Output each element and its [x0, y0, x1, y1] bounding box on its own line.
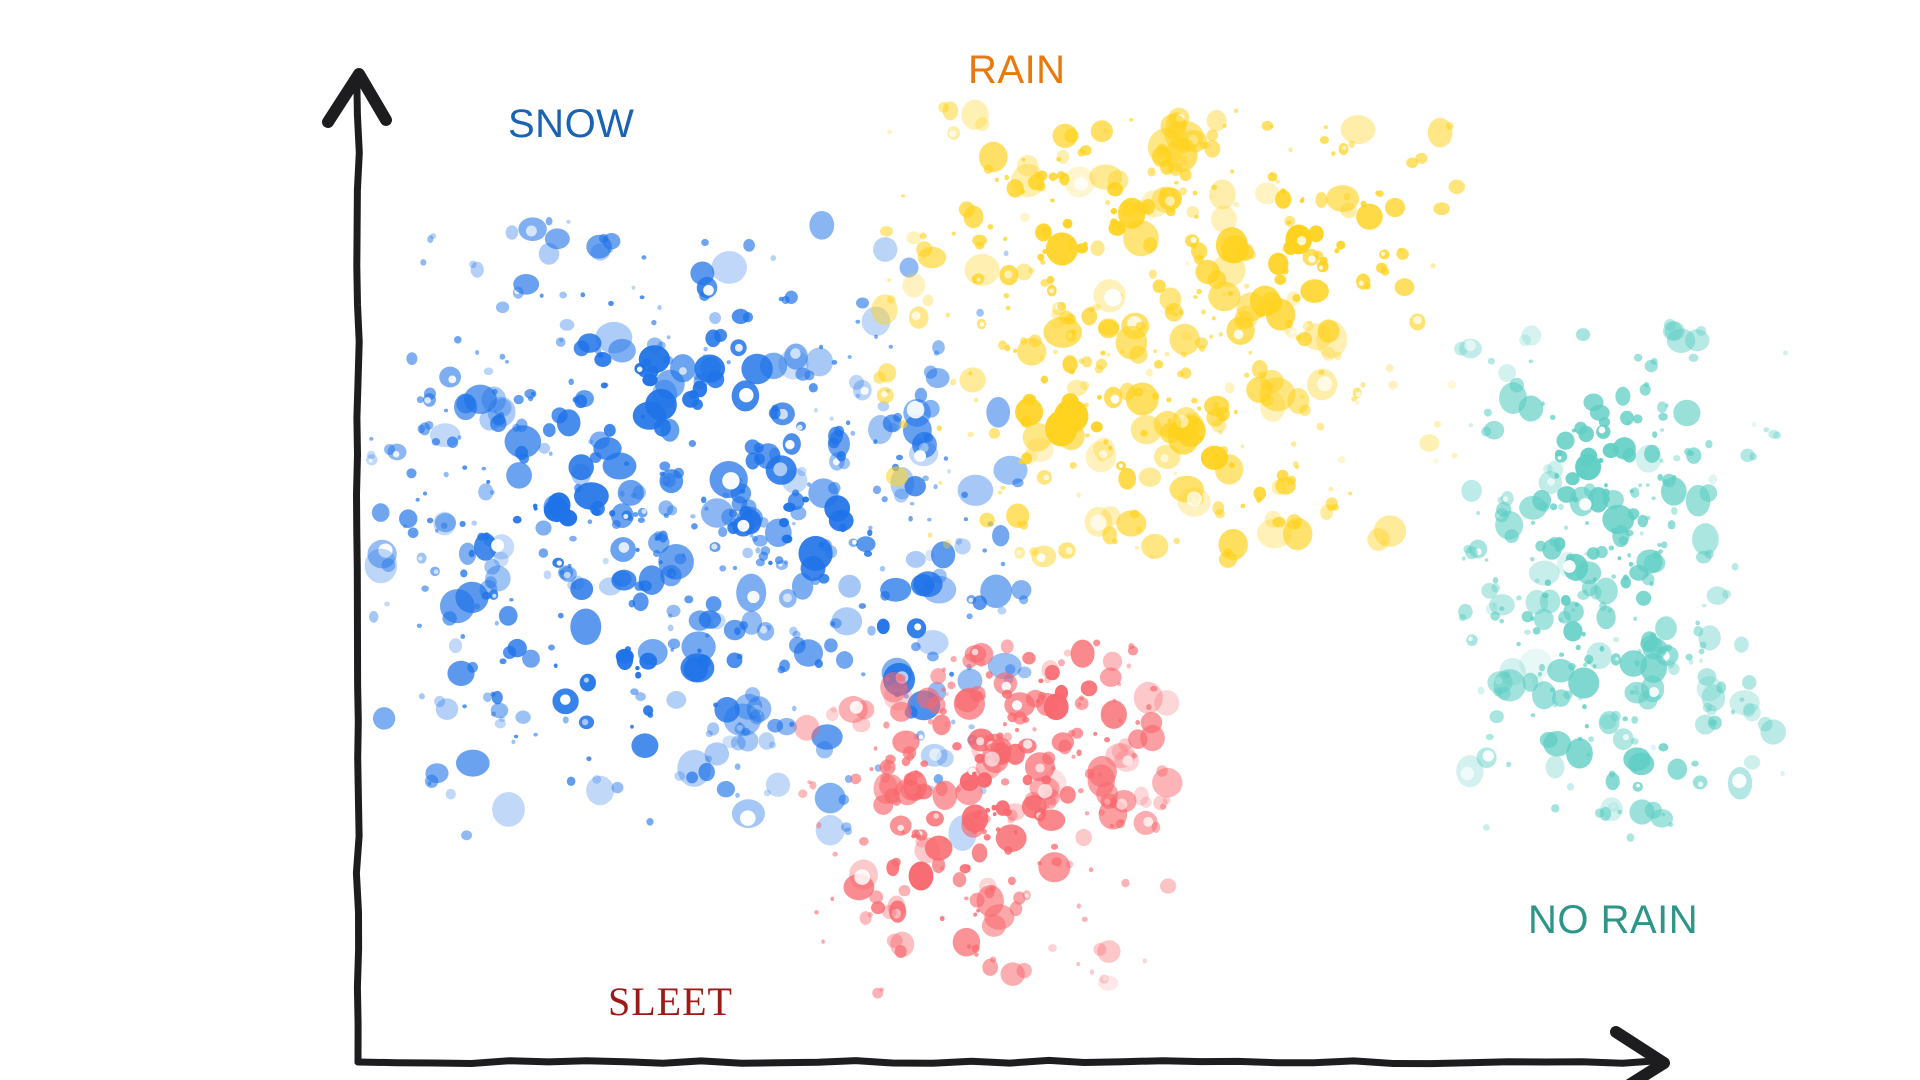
data-point [1100, 668, 1122, 687]
data-point [500, 658, 507, 664]
data-point [1732, 563, 1739, 571]
data-point [958, 475, 994, 506]
data-point-satellite [1008, 816, 1015, 823]
data-point [701, 496, 707, 503]
data-point [657, 305, 661, 310]
data-point [1070, 462, 1077, 469]
data-point-highlight [1122, 755, 1133, 766]
data-points-layer [365, 100, 1788, 999]
data-point [1201, 309, 1206, 314]
data-point [982, 548, 987, 552]
data-point-satellite [1236, 243, 1254, 261]
data-point [1693, 626, 1703, 637]
data-point [1543, 731, 1571, 757]
data-point [515, 711, 530, 724]
data-point [1699, 658, 1703, 663]
data-point [1587, 660, 1591, 664]
data-point-satellite [1364, 283, 1371, 290]
data-point-satellite [646, 366, 659, 379]
data-point [1516, 642, 1521, 646]
data-point [1668, 759, 1687, 780]
data-point-satellite [972, 945, 980, 953]
data-point-satellite [1069, 369, 1075, 375]
data-point-highlight [393, 451, 399, 457]
data-point [1060, 786, 1076, 804]
data-point [635, 666, 639, 670]
data-point [1642, 573, 1655, 585]
data-point [1100, 351, 1106, 356]
data-point [1076, 962, 1080, 966]
data-point [899, 420, 907, 428]
data-point-highlight [1049, 289, 1054, 294]
data-point [968, 724, 974, 729]
data-point [917, 834, 921, 838]
data-point [1604, 483, 1608, 487]
data-point [1315, 192, 1327, 208]
data-point [1348, 492, 1352, 496]
data-point [1646, 483, 1650, 487]
data-point [567, 777, 576, 786]
data-point-satellite [490, 692, 495, 697]
data-point [874, 746, 878, 750]
data-point [927, 518, 932, 522]
data-point [1292, 294, 1300, 302]
data-point-highlight [1111, 395, 1120, 404]
data-point [684, 595, 693, 603]
data-point-highlight [1234, 330, 1244, 340]
data-point [1706, 704, 1717, 715]
data-point [880, 566, 885, 572]
data-point [1209, 180, 1236, 210]
data-point [794, 715, 819, 741]
data-point [511, 740, 515, 745]
data-point [1708, 474, 1717, 484]
data-point-highlight [933, 813, 939, 819]
data-point-satellite [893, 413, 902, 422]
data-point-highlight [1317, 376, 1332, 391]
data-point [902, 273, 925, 297]
data-point [1116, 510, 1146, 536]
data-point-satellite [1177, 371, 1184, 378]
data-point [513, 516, 522, 524]
data-point-satellite [831, 706, 837, 712]
data-point [1633, 414, 1643, 423]
data-point [940, 916, 945, 921]
data-point-highlight [1043, 475, 1049, 481]
data-point [492, 792, 525, 827]
cluster-label-sleet: SLEET [608, 982, 733, 1022]
data-point-satellite [737, 654, 743, 660]
data-point [1081, 680, 1098, 696]
data-point [1200, 141, 1209, 149]
data-point [1642, 638, 1667, 660]
data-point [1752, 421, 1757, 427]
data-point [1001, 639, 1014, 653]
data-point [1244, 283, 1249, 288]
data-point [588, 519, 593, 524]
data-point [680, 653, 714, 682]
data-point-highlight [911, 311, 920, 320]
data-point-satellite [880, 591, 890, 601]
data-point [1530, 557, 1534, 561]
data-point [406, 468, 416, 478]
data-point [996, 824, 1027, 852]
data-point-highlight [711, 544, 717, 550]
data-point [814, 910, 819, 914]
data-point [549, 452, 553, 456]
data-point [1483, 824, 1490, 831]
data-point [1040, 260, 1045, 265]
data-point [959, 367, 986, 392]
data-point-satellite [714, 329, 727, 342]
data-point [1645, 516, 1651, 521]
data-point [848, 355, 852, 359]
data-point [1053, 124, 1078, 148]
data-point [1651, 809, 1673, 827]
data-point [859, 837, 869, 846]
data-point [544, 499, 570, 523]
data-point [1071, 319, 1075, 323]
data-point [1478, 687, 1485, 695]
data-point [1625, 530, 1633, 536]
data-point-highlight [619, 542, 630, 553]
data-point-satellite [367, 451, 375, 459]
data-point-satellite [599, 234, 609, 244]
data-point [540, 294, 544, 298]
data-point-satellite [1128, 643, 1134, 649]
data-point [767, 719, 783, 733]
data-point [868, 415, 892, 444]
data-point [1154, 411, 1182, 438]
data-point-satellite [1459, 614, 1466, 621]
data-point-satellite [631, 493, 637, 499]
data-point [832, 360, 838, 365]
data-point [1000, 486, 1005, 490]
data-point [1007, 712, 1017, 722]
data-point [745, 439, 761, 454]
data-point-satellite [882, 905, 897, 920]
data-point [706, 596, 722, 612]
data-point-satellite [1038, 692, 1046, 700]
data-point [1003, 722, 1007, 726]
data-point-satellite [1749, 453, 1757, 461]
data-point [1630, 487, 1639, 498]
data-point [1064, 649, 1072, 656]
data-point-satellite [984, 164, 993, 173]
data-point [1476, 511, 1480, 515]
data-point [1566, 472, 1580, 485]
data-point [1022, 717, 1029, 723]
data-point-highlight [929, 748, 941, 760]
data-point [1516, 595, 1522, 600]
data-point-satellite [1019, 595, 1028, 604]
data-point-satellite [778, 666, 785, 673]
data-point-satellite [868, 912, 873, 917]
data-point [873, 485, 881, 494]
data-point [856, 536, 875, 552]
data-point-highlight [1143, 817, 1153, 827]
data-point [475, 350, 479, 355]
data-point [646, 818, 653, 826]
data-point [399, 509, 417, 528]
data-point [809, 211, 834, 240]
data-point [940, 708, 947, 715]
data-point [460, 634, 465, 639]
data-point-satellite [1083, 242, 1088, 247]
data-point [1141, 534, 1168, 559]
data-point [1103, 128, 1107, 133]
cluster-sleet [794, 639, 1182, 998]
data-point [1291, 441, 1297, 446]
data-point [976, 909, 980, 913]
data-point [1448, 380, 1456, 389]
data-point [1174, 538, 1181, 544]
data-point [1631, 738, 1639, 745]
data-point-satellite [1611, 711, 1621, 721]
data-point [539, 243, 560, 265]
data-point [699, 610, 721, 628]
data-point-satellite [990, 956, 996, 962]
cluster-snow [365, 211, 1032, 851]
data-point-highlight [1483, 750, 1494, 761]
data-point-satellite [1029, 334, 1042, 347]
data-point-satellite [1481, 426, 1491, 436]
data-point-satellite [1651, 358, 1658, 365]
data-point-highlight [1308, 255, 1316, 263]
data-point-satellite [707, 371, 725, 389]
data-point-satellite [849, 375, 864, 390]
data-point [924, 581, 933, 590]
data-point [1241, 445, 1245, 449]
data-point [1551, 804, 1559, 813]
data-point-highlight [1460, 767, 1473, 780]
data-point-highlight [1413, 316, 1422, 325]
data-point [1740, 697, 1745, 701]
data-point [1717, 681, 1727, 693]
data-point [1484, 409, 1492, 417]
data-point [597, 352, 604, 358]
cluster-label-rain: RAIN [968, 50, 1066, 90]
data-point [1058, 659, 1065, 666]
data-point [1700, 642, 1707, 649]
data-point [1505, 529, 1519, 543]
data-point [1660, 428, 1664, 432]
data-point-satellite [887, 295, 895, 303]
data-point [911, 642, 921, 651]
data-point [979, 513, 995, 528]
data-point [1695, 620, 1700, 625]
data-point [1219, 529, 1248, 560]
data-point [428, 781, 432, 786]
data-point [1489, 710, 1503, 723]
data-point [1381, 540, 1387, 547]
data-point [1699, 648, 1705, 654]
data-point [984, 834, 991, 840]
data-point [1580, 472, 1584, 476]
data-point-satellite [962, 653, 977, 668]
data-point-satellite [1028, 268, 1034, 274]
data-point [735, 793, 740, 798]
data-point [1196, 289, 1202, 295]
data-point [1449, 180, 1465, 194]
data-point [558, 613, 564, 619]
data-point [944, 722, 950, 727]
data-point-satellite [844, 828, 852, 836]
data-point [1295, 465, 1300, 469]
data-point [816, 822, 821, 828]
data-point-highlight [737, 520, 749, 532]
data-point [974, 398, 979, 403]
data-point [1617, 556, 1621, 560]
data-point [1499, 619, 1504, 624]
data-point [972, 772, 977, 777]
data-point [1071, 755, 1075, 759]
data-point [1076, 492, 1081, 498]
data-point-highlight [1319, 266, 1323, 270]
data-point [701, 239, 709, 246]
data-point [1630, 690, 1635, 695]
data-point-highlight [679, 367, 687, 375]
data-point [1419, 434, 1439, 451]
data-point [967, 944, 971, 949]
data-point-satellite [1580, 456, 1591, 467]
data-point [976, 691, 983, 699]
data-point-satellite [1758, 717, 1773, 732]
data-point [1135, 546, 1139, 550]
data-point [868, 526, 872, 530]
data-point [1742, 675, 1756, 690]
data-point [444, 409, 448, 413]
data-point [1395, 278, 1415, 296]
data-point [580, 292, 585, 297]
data-point [1099, 809, 1105, 816]
data-point-satellite [1077, 149, 1085, 157]
data-point [1555, 450, 1562, 457]
data-point [1136, 322, 1146, 330]
data-point-highlight [783, 593, 792, 602]
data-point [612, 782, 624, 794]
data-point-satellite [1322, 347, 1336, 361]
data-point [1160, 803, 1166, 809]
data-point [703, 347, 707, 352]
data-point [945, 692, 949, 696]
data-point [1539, 664, 1545, 671]
data-point-satellite [1287, 476, 1296, 485]
data-point [964, 517, 968, 521]
data-point-highlight [1035, 763, 1044, 772]
cluster-no-rain [1454, 319, 1788, 842]
data-point [1328, 487, 1333, 492]
data-point [1071, 640, 1095, 668]
data-point [1126, 383, 1159, 416]
data-point [830, 417, 834, 421]
data-point [1166, 397, 1171, 402]
data-point [1360, 382, 1365, 388]
data-point [824, 638, 838, 652]
data-point [955, 780, 982, 805]
data-point-satellite [1696, 326, 1706, 336]
data-point-highlight [773, 462, 787, 476]
data-point-highlight [424, 397, 431, 404]
data-point-satellite [425, 421, 434, 430]
data-point [719, 565, 726, 571]
data-point [1048, 944, 1057, 952]
data-point-highlight [492, 594, 496, 598]
data-point-highlight [1558, 456, 1562, 460]
data-point-satellite [1108, 170, 1129, 191]
data-point-satellite [592, 775, 601, 784]
cluster-label-snow: SNOW [508, 104, 634, 144]
data-point-highlight [1563, 560, 1576, 573]
data-point-satellite [1332, 504, 1339, 511]
data-point [1053, 350, 1058, 355]
data-point-highlight [1732, 774, 1746, 788]
data-point [1284, 216, 1295, 227]
data-point [1219, 332, 1224, 337]
data-point [664, 513, 669, 518]
data-point-satellite [792, 489, 799, 496]
data-point-satellite [771, 405, 778, 412]
data-point [926, 811, 944, 827]
data-point [1561, 595, 1571, 606]
data-point [1101, 700, 1127, 729]
data-point [373, 707, 395, 729]
data-point-satellite [873, 371, 885, 383]
data-point-satellite [1110, 218, 1118, 226]
data-point [539, 548, 549, 558]
data-point [514, 395, 524, 404]
data-point [1143, 958, 1147, 963]
data-point [372, 503, 390, 522]
data-point [1234, 109, 1238, 113]
data-point-satellite [1644, 382, 1649, 387]
data-point [1082, 917, 1088, 922]
data-point-satellite [1684, 448, 1692, 456]
data-point [1104, 737, 1110, 742]
data-point [1586, 753, 1591, 758]
data-point-satellite [797, 467, 806, 476]
data-point [624, 461, 629, 466]
data-point [1388, 381, 1397, 390]
data-point-satellite [1129, 346, 1147, 364]
data-point-satellite [916, 241, 932, 257]
data-point [469, 550, 475, 558]
data-point-satellite [528, 396, 533, 401]
data-point [1583, 663, 1587, 668]
data-point [1318, 370, 1324, 375]
data-point [1633, 616, 1637, 620]
data-point [1658, 549, 1663, 554]
data-point [1193, 190, 1198, 195]
data-point [1657, 474, 1663, 481]
data-point-satellite [1282, 267, 1289, 274]
data-point [500, 354, 506, 360]
data-point [925, 550, 934, 561]
data-point [1686, 654, 1693, 661]
data-point [1596, 606, 1615, 630]
data-point-highlight [1017, 550, 1022, 555]
data-point [1556, 432, 1574, 450]
data-point [616, 649, 634, 664]
data-point [432, 438, 440, 446]
data-point [1195, 215, 1199, 219]
data-point [570, 609, 601, 646]
data-point [652, 380, 677, 409]
data-point-satellite [1549, 537, 1559, 547]
data-point-satellite [1194, 255, 1204, 265]
data-point [922, 475, 929, 481]
data-point-highlight [1698, 782, 1704, 788]
